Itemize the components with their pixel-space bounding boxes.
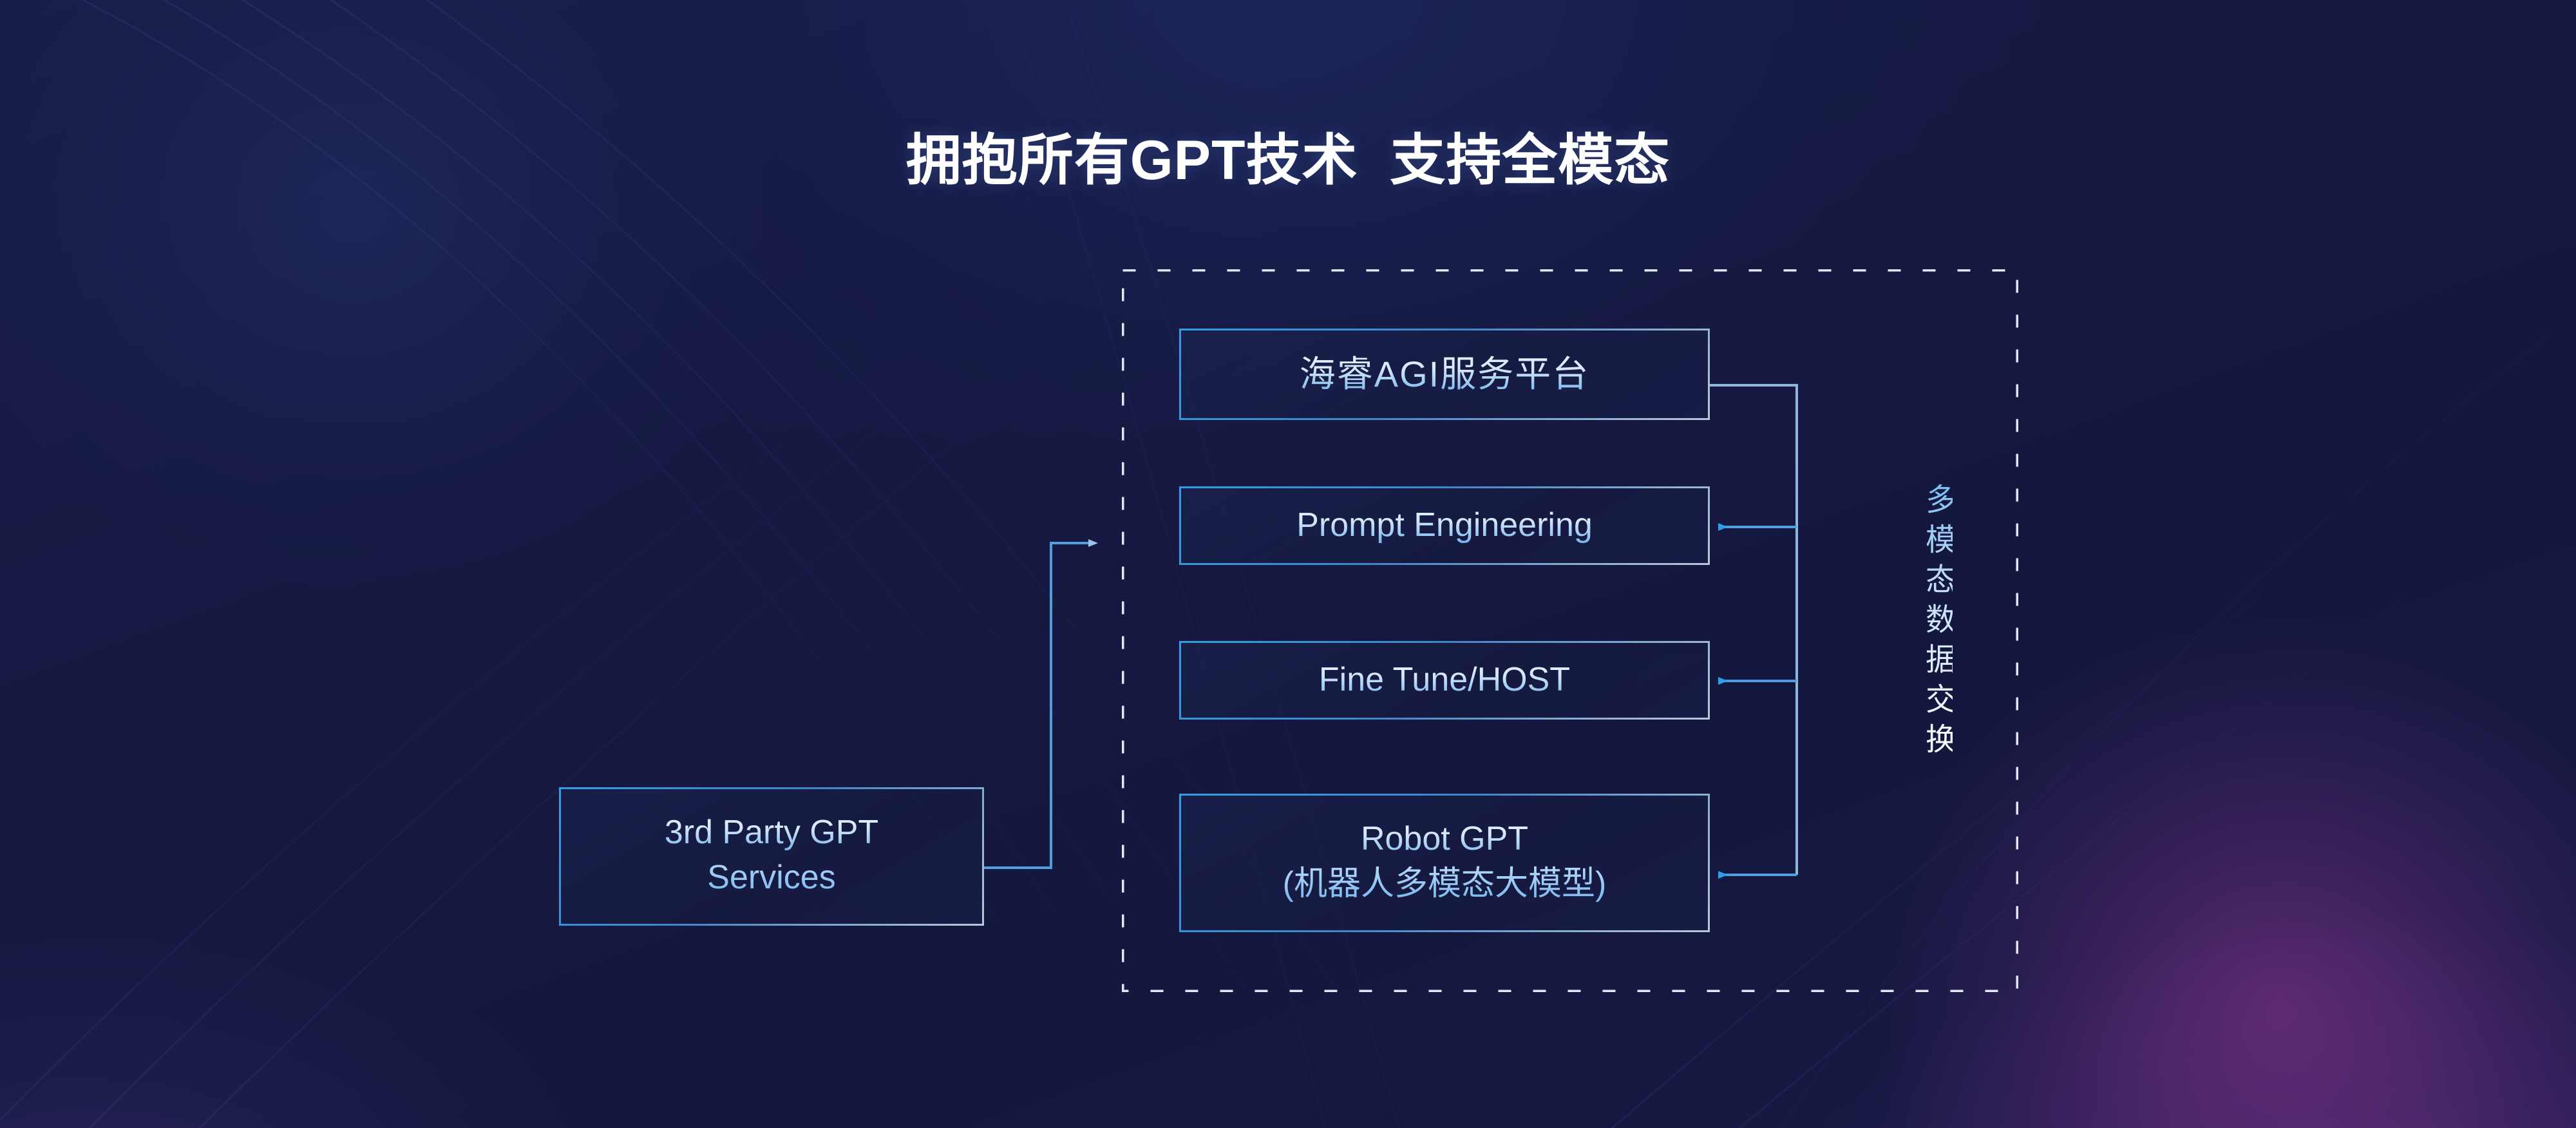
page-title: 拥抱所有GPT技术 支持全模态	[0, 115, 2576, 195]
top-left-glow	[0, 0, 902, 696]
side-label-multimodal-data-exchange: 多模态数据交换	[1908, 483, 1953, 763]
slide-canvas: 拥抱所有GPT技术 支持全模态	[0, 0, 2576, 1128]
node-prompt-engineering-label: Prompt Engineering	[1296, 506, 1593, 545]
node-fine-tune-host-label: Fine Tune/HOST	[1319, 661, 1570, 700]
node-third-party-gpt-label: 3rd Party GPT	[665, 814, 878, 852]
node-robot-gpt-sublabel: (机器人多模态大模型)	[1283, 863, 1607, 906]
node-agi-platform-label: 海睿AGI服务平台	[1300, 354, 1589, 395]
node-third-party-gpt-sublabel: Services	[707, 856, 835, 900]
node-robot-gpt-label: Robot GPT	[1361, 820, 1528, 859]
node-fine-tune-host[interactable]: Fine Tune/HOST	[1179, 641, 1710, 720]
node-robot-gpt[interactable]: Robot GPT (机器人多模态大模型)	[1179, 794, 1710, 932]
bottom-right-glow	[1765, 522, 2576, 1128]
node-agi-platform[interactable]: 海睿AGI服务平台	[1179, 329, 1710, 420]
node-third-party-gpt[interactable]: 3rd Party GPT Services	[559, 787, 984, 926]
node-prompt-engineering[interactable]: Prompt Engineering	[1179, 486, 1710, 565]
connector-third-party-to-platform	[984, 543, 1088, 868]
connector-agi-trunk	[1710, 385, 1797, 875]
